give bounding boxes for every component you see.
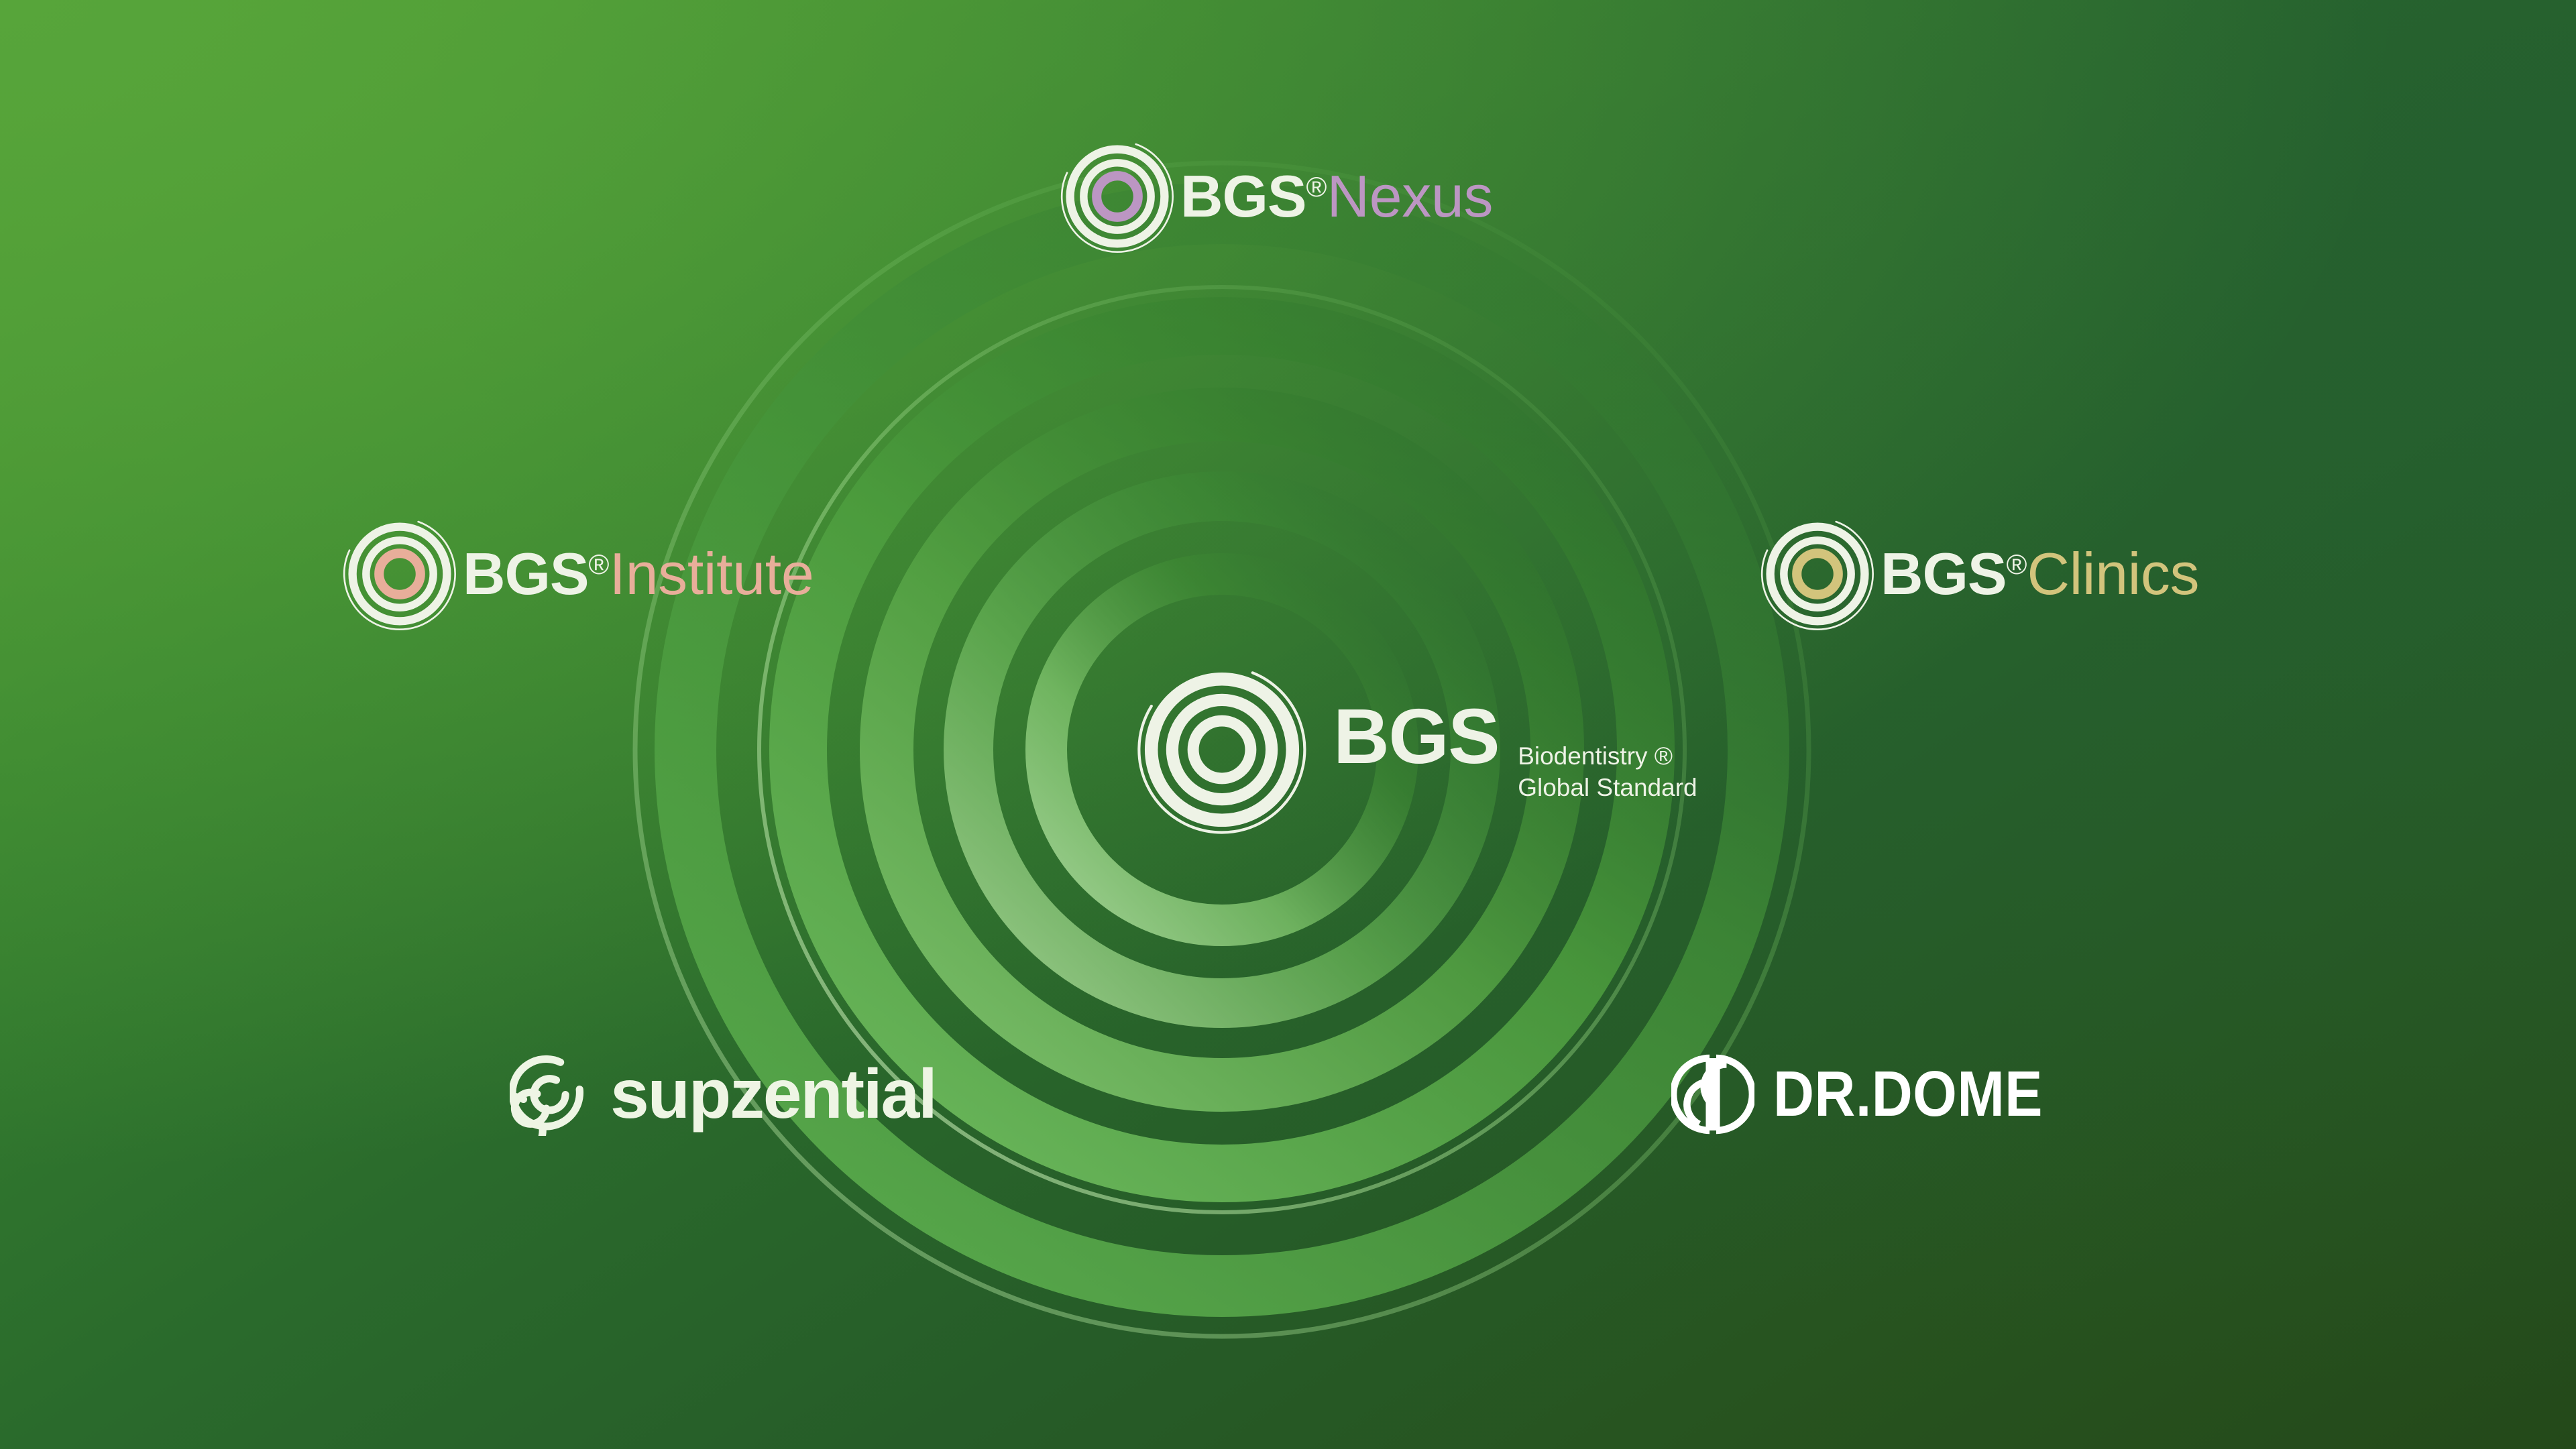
supzential-wordmark: supzential [610,1055,936,1135]
tagline-line-2: Global Standard [1518,772,1697,803]
center-wordmark: BGS Biodentistry ® Global Standard [1309,697,1697,803]
clinics-wordmark: BGS ® Clinics [1877,544,2199,603]
institute-suffix-text: Institute [609,544,814,603]
dr-dome-wordmark: DR.DOME [1773,1057,2043,1131]
brand-bgs-nexus[interactable]: BGS ® Nexus [1058,137,1493,255]
nexus-suffix-text: Nexus [1327,167,1493,226]
brand-ecosystem-canvas: BGS Biodentistry ® Global Standard BGS ®… [0,0,2576,1449]
bgs-concentric-rings-icon [1058,137,1176,255]
bgs-concentric-rings-icon [1758,515,1877,633]
brand-dr-dome[interactable]: DR.DOME [1671,1053,2080,1136]
institute-wordmark: BGS ® Institute [459,544,814,603]
bgs-concentric-rings-icon [1135,662,1309,837]
spiral-swirl-icon [510,1053,593,1136]
tagline-line-1: Biodentistry ® [1518,740,1697,772]
brand-bgs-institute[interactable]: BGS ® Institute [341,515,814,633]
brand-supzential[interactable]: supzential [510,1053,936,1136]
center-bgs-text: BGS [1333,697,1499,775]
clinics-bgs-text: BGS [1881,544,2007,603]
brand-bgs-master[interactable]: BGS Biodentistry ® Global Standard [1135,662,1697,837]
nexus-wordmark: BGS ® Nexus [1176,167,1493,226]
brand-bgs-clinics[interactable]: BGS ® Clinics [1758,515,2199,633]
bgs-concentric-rings-icon [341,515,459,633]
registered-mark: ® [1306,173,1327,201]
registered-mark: ® [589,550,610,579]
nexus-bgs-text: BGS [1180,167,1306,226]
center-tagline: Biodentistry ® Global Standard [1518,740,1697,804]
dome-monogram-icon [1671,1053,1754,1136]
registered-mark: ® [2007,550,2027,579]
clinics-suffix-text: Clinics [2027,544,2199,603]
institute-bgs-text: BGS [463,544,589,603]
